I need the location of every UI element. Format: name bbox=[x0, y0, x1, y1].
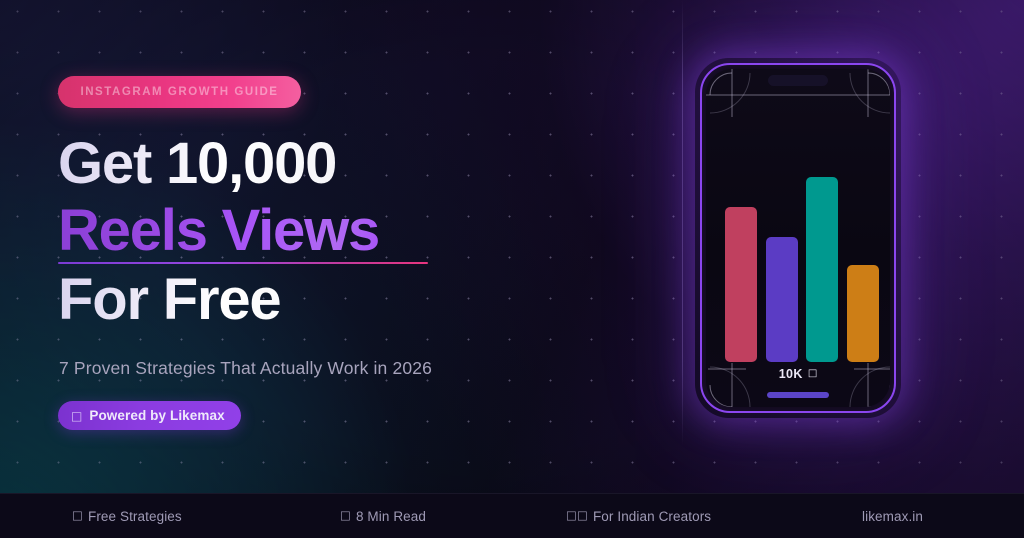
footer-item-read-time: □ 8 Min Read bbox=[340, 509, 426, 524]
phone-mockup: 10K □ bbox=[695, 58, 901, 418]
page-title: Get 10,000 Reels Views For Free bbox=[58, 130, 658, 333]
metric-value: 10K bbox=[779, 367, 803, 381]
headline-line-2: Reels Views bbox=[58, 197, 379, 266]
hero-banner: INSTAGRAM GROWTH GUIDE Get 10,000 Reels … bbox=[0, 0, 1024, 538]
powered-by-likemax-button[interactable]: □ Powered by Likemax bbox=[58, 401, 241, 430]
phone-frame: 10K □ bbox=[700, 63, 896, 413]
category-badge-label: INSTAGRAM GROWTH GUIDE bbox=[80, 86, 278, 98]
footer-item-label: For Indian Creators bbox=[593, 509, 711, 524]
bar-4 bbox=[847, 265, 879, 363]
eye-icon: □ bbox=[808, 369, 817, 379]
headline-line-3: For Free bbox=[58, 266, 658, 333]
clock-icon: □ bbox=[340, 510, 351, 522]
phone-notch bbox=[768, 75, 828, 86]
bar-2 bbox=[766, 237, 798, 362]
headline-line-1: Get 10,000 bbox=[58, 130, 658, 197]
india-flag-icon: □□ bbox=[566, 510, 588, 522]
footer-bar: □ Free Strategies □ 8 Min Read □□ For In… bbox=[0, 493, 1024, 538]
bar-1 bbox=[725, 207, 757, 362]
powered-by-likemax-label: Powered by Likemax bbox=[89, 408, 224, 423]
footer-item-label: 8 Min Read bbox=[356, 509, 426, 524]
bar-chart bbox=[725, 112, 879, 362]
footer-item-indian-creators: □□ For Indian Creators bbox=[566, 509, 711, 524]
phone-screen: 10K □ bbox=[706, 69, 890, 407]
footer-item-label: Free Strategies bbox=[88, 509, 182, 524]
metric-label: 10K □ bbox=[706, 367, 890, 381]
home-indicator bbox=[767, 392, 829, 398]
checklist-icon: □ bbox=[72, 510, 83, 522]
footer-item-label: likemax.in bbox=[862, 509, 923, 524]
hero-subtitle: 7 Proven Strategies That Actually Work i… bbox=[59, 358, 432, 379]
hero-content-column: INSTAGRAM GROWTH GUIDE Get 10,000 Reels … bbox=[58, 0, 658, 493]
category-badge: INSTAGRAM GROWTH GUIDE bbox=[58, 76, 301, 108]
vertical-divider bbox=[682, 0, 683, 446]
footer-item-free-strategies: □ Free Strategies bbox=[72, 509, 182, 524]
bar-3 bbox=[806, 177, 838, 362]
footer-item-website[interactable]: likemax.in bbox=[862, 509, 923, 524]
headline-underline bbox=[58, 262, 428, 264]
sparkle-icon: □ bbox=[71, 410, 82, 422]
